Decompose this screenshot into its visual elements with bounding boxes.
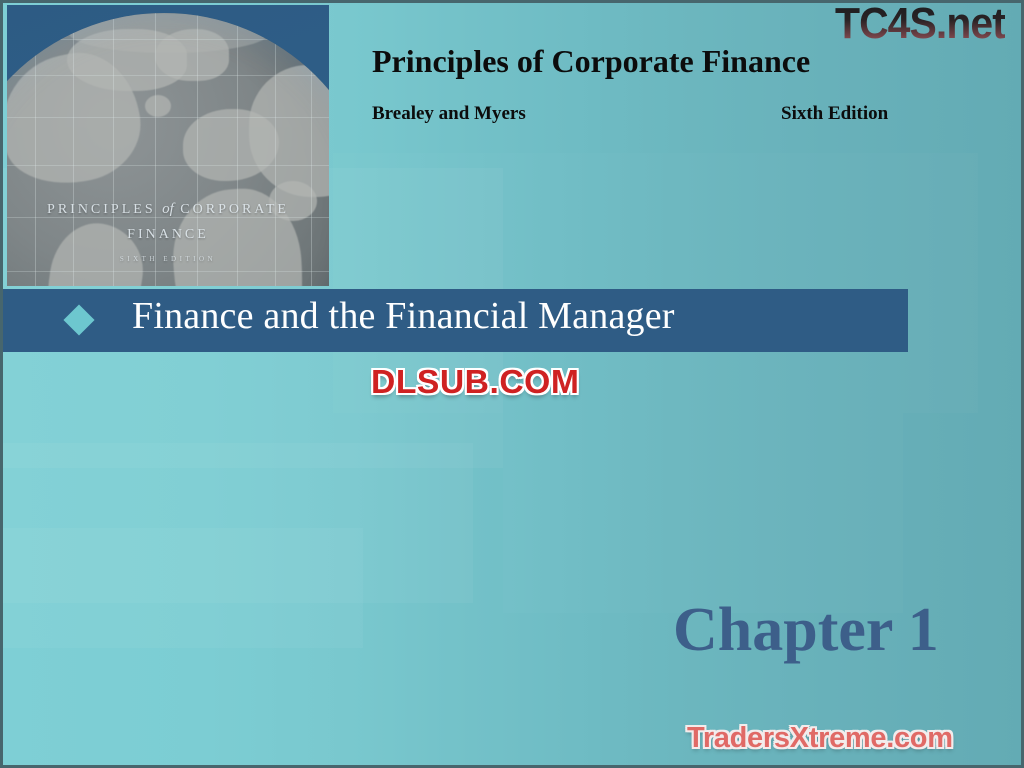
chapter-label: Chapter 1 bbox=[673, 595, 939, 666]
book-edition-label: Sixth Edition bbox=[781, 103, 888, 125]
watermark-dlsub: DLSUB.COM bbox=[371, 363, 579, 401]
diamond-bullet-icon bbox=[63, 304, 94, 335]
book-cover-image: PRINCIPLES of CORPORATE FINANCE SIXTH ED… bbox=[7, 5, 329, 286]
cover-title-of: of bbox=[162, 201, 174, 217]
book-title-heading: Principles of Corporate Finance bbox=[372, 43, 810, 80]
watermark-tradersxtreme: TradersXtreme.com bbox=[687, 722, 953, 755]
slide-title: Finance and the Financial Manager bbox=[132, 294, 675, 338]
cover-title-corporate: CORPORATE bbox=[180, 202, 289, 217]
presentation-slide: PRINCIPLES of CORPORATE FINANCE SIXTH ED… bbox=[0, 0, 1024, 768]
cover-title-principles: PRINCIPLES bbox=[47, 202, 156, 217]
cover-edition-label: SIXTH EDITION bbox=[7, 255, 329, 263]
book-authors-label: Brealey and Myers bbox=[372, 103, 526, 125]
watermark-tc4s: TC4S.net bbox=[835, 0, 1005, 49]
globe-icon bbox=[7, 13, 329, 286]
cover-title-line2: FINANCE bbox=[7, 227, 329, 243]
cover-title-line1: PRINCIPLES of CORPORATE bbox=[7, 201, 329, 218]
globe-rim bbox=[7, 13, 329, 286]
slide-title-bar: Finance and the Financial Manager bbox=[0, 289, 908, 352]
